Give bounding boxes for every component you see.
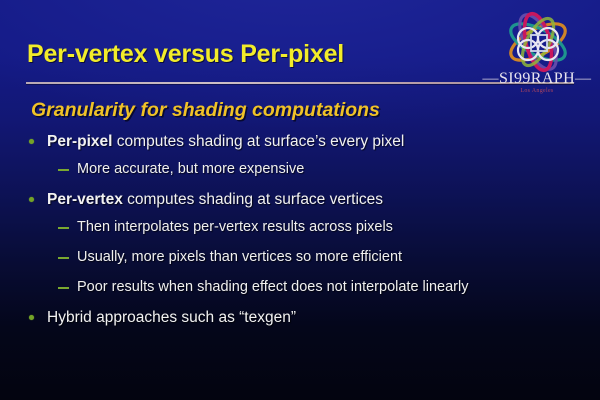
bullet-text: Hybrid approaches such as “texgen” [47, 309, 296, 326]
bullet-text: Usually, more pixels than vertices so mo… [77, 249, 402, 265]
list-item: Per-vertex computes shading at surface v… [0, 190, 600, 209]
logo-city-label: Los Angeles [482, 88, 592, 94]
list-item: Then interpolates per-vertex results acr… [0, 218, 600, 237]
siggraph-logo: —SI99RAPH— Los Angeles [482, 8, 592, 104]
list-item: Per-pixel computes shading at surface’s … [0, 132, 600, 151]
bullet-dash-icon [58, 257, 69, 259]
slide-subtitle: Granularity for shading computations [31, 99, 380, 122]
bullet-dot-icon [29, 197, 34, 202]
bullet-lead: Per-pixel [47, 133, 112, 150]
bullet-text: Then interpolates per-vertex results acr… [77, 219, 393, 235]
bullet-text: More accurate, but more expensive [77, 161, 304, 177]
bullet-dash-icon [58, 227, 69, 229]
bullet-list: Per-pixel computes shading at surface’s … [0, 132, 600, 336]
bullet-dash-icon [58, 169, 69, 171]
logo-rule-right: — [575, 70, 591, 87]
logo-rule-left: — [483, 70, 499, 87]
presentation-slide: Per-vertex versus Per-pixel Granularity … [0, 0, 600, 400]
siggraph-rings-icon [490, 8, 586, 76]
list-item: More accurate, but more expensive [0, 160, 600, 179]
bullet-dash-icon [58, 287, 69, 289]
bullet-text: computes shading at surface vertices [123, 191, 383, 208]
list-item: Hybrid approaches such as “texgen” [0, 308, 600, 327]
list-item: Usually, more pixels than vertices so mo… [0, 248, 600, 267]
slide-title: Per-vertex versus Per-pixel [27, 40, 344, 69]
bullet-text: computes shading at surface’s every pixe… [112, 133, 404, 150]
logo-wordmark: —SI99RAPH— [482, 70, 592, 88]
logo-wordmark-text: SI99RAPH [499, 70, 575, 87]
bullet-dot-icon [29, 139, 34, 144]
bullet-text: Poor results when shading effect does no… [77, 279, 468, 295]
bullet-lead: Per-vertex [47, 191, 123, 208]
list-item: Poor results when shading effect does no… [0, 278, 600, 297]
bullet-dot-icon [29, 315, 34, 320]
